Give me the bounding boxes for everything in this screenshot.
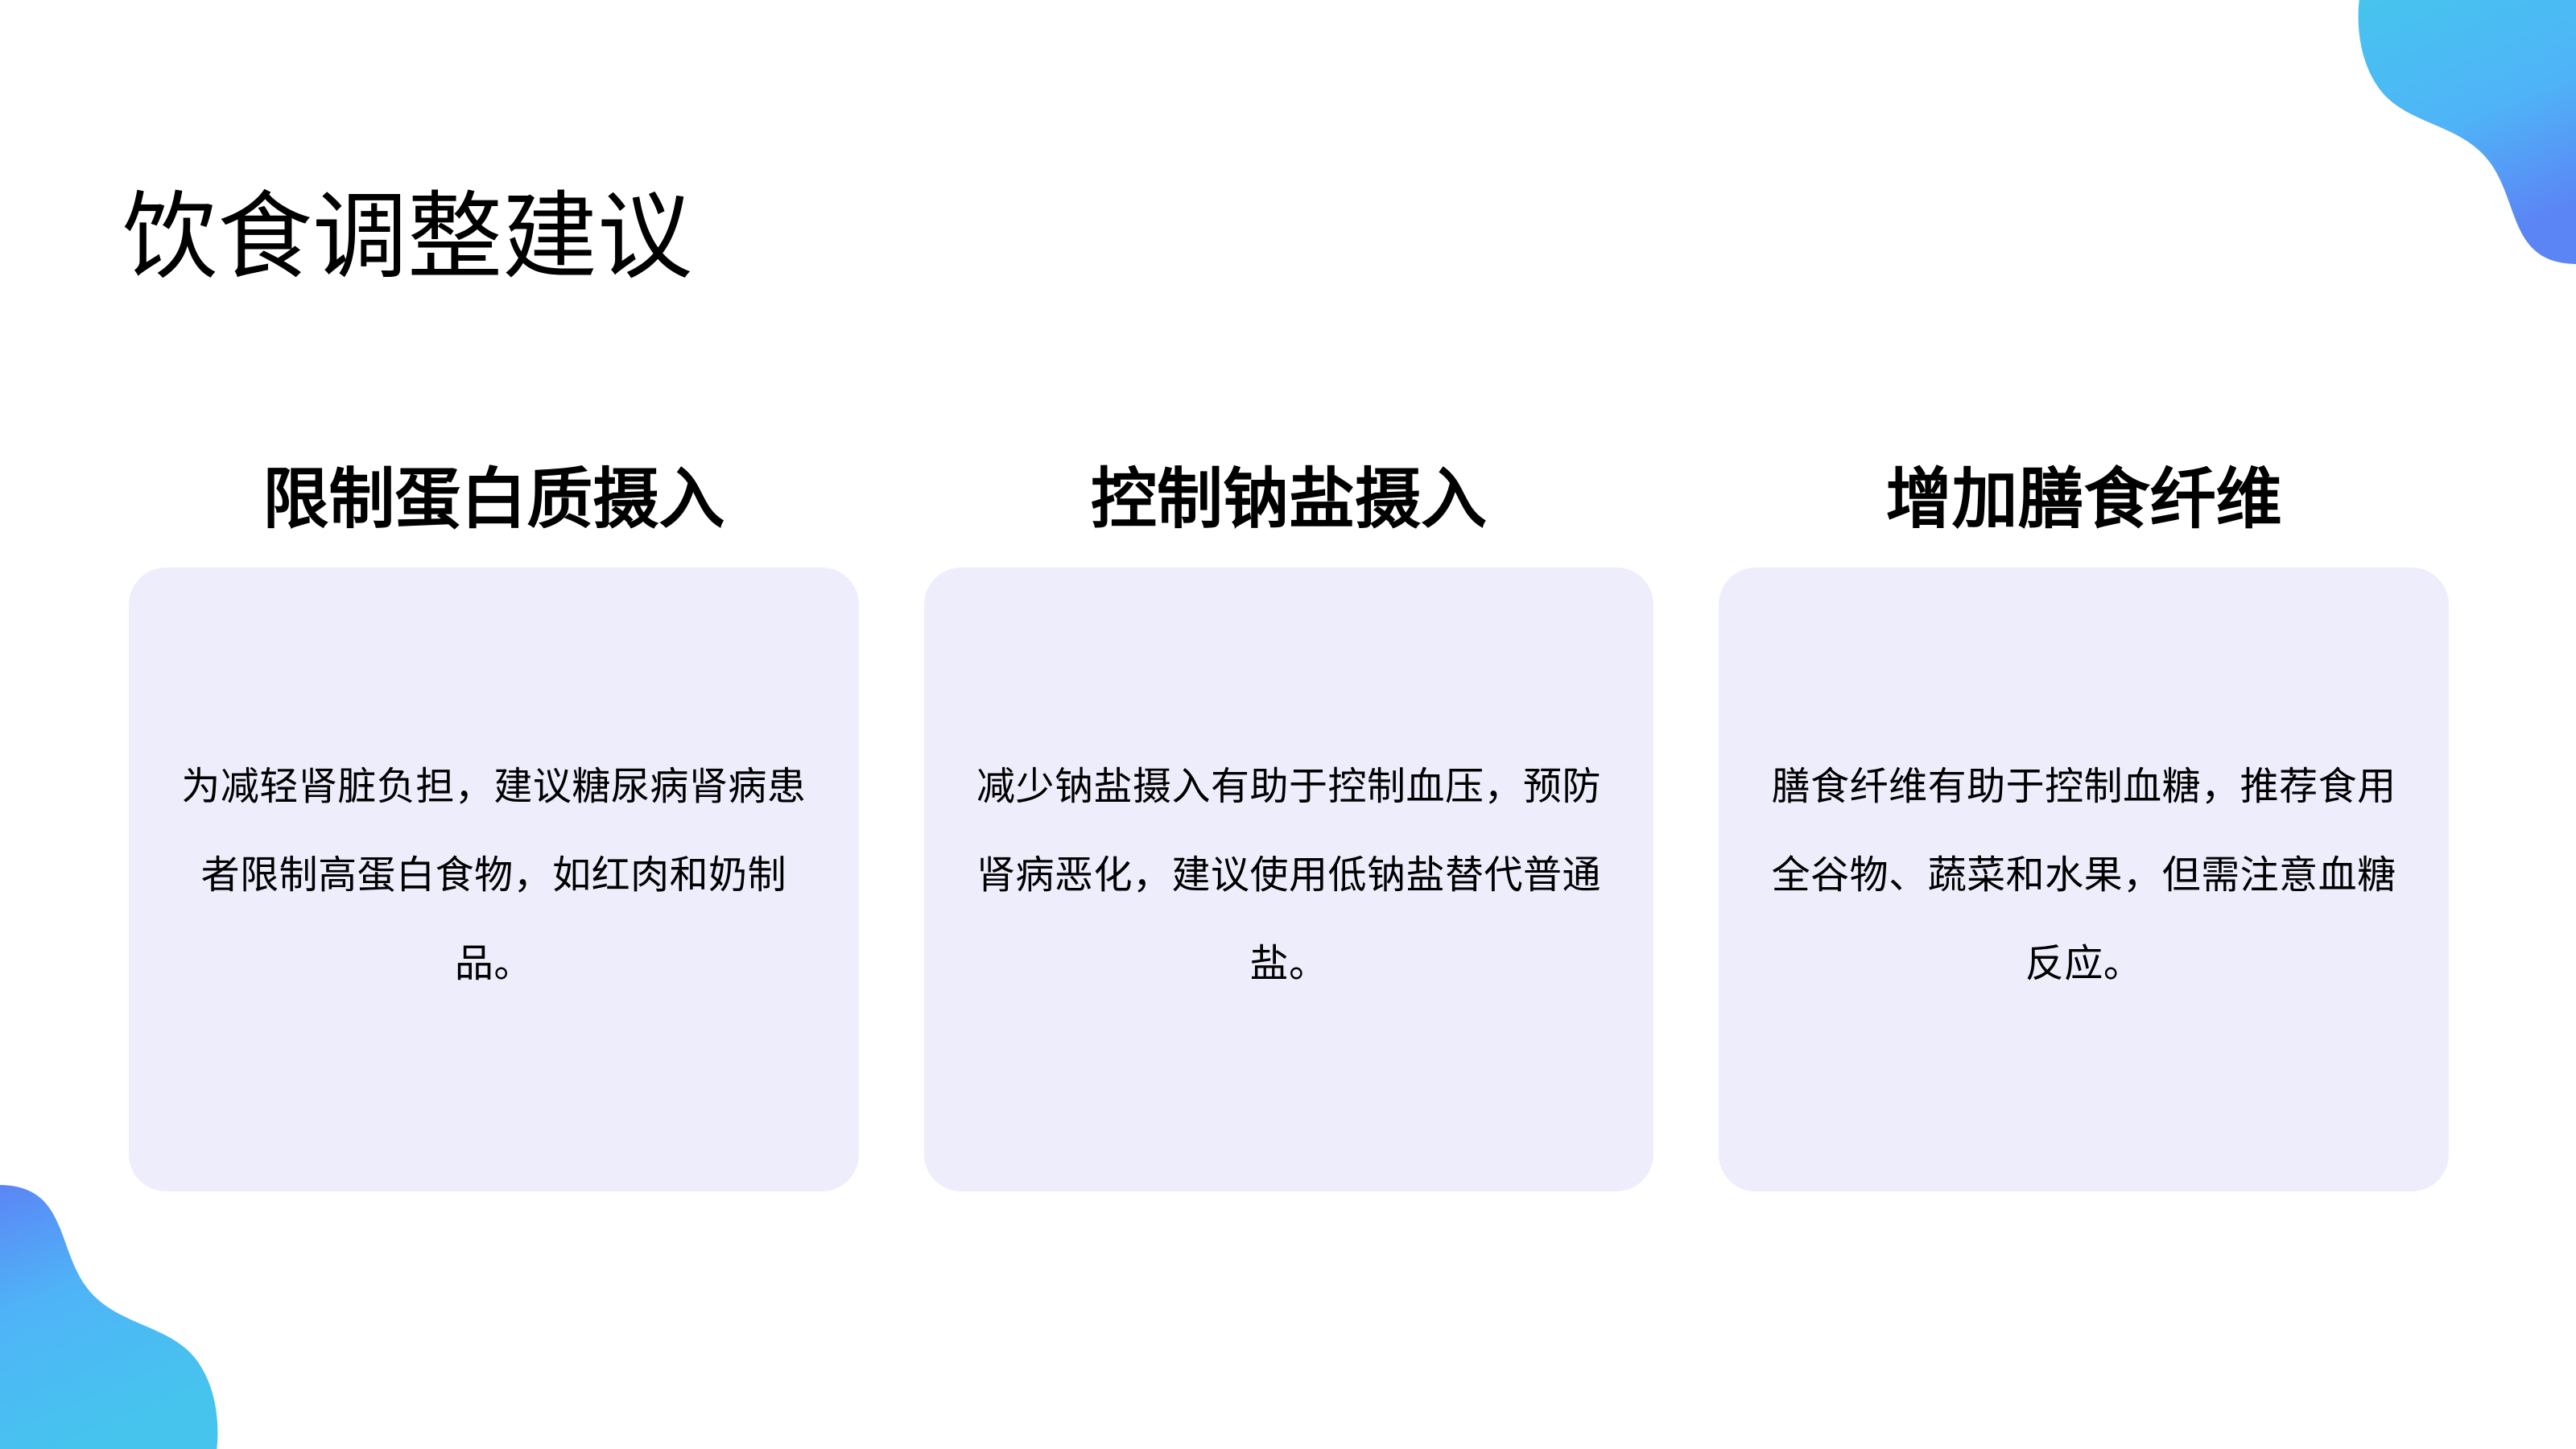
card-body-2: 减少钠盐摄入有助于控制血压，预防肾病恶化，建议使用低钠盐替代普通盐。 — [971, 743, 1608, 1009]
card-columns: 限制蛋白质摄入 为减轻肾脏负担，建议糖尿病肾病患者限制高蛋白食物，如红肉和奶制品… — [129, 451, 2449, 1191]
card-column-2: 控制钠盐摄入 减少钠盐摄入有助于控制血压，预防肾病恶化，建议使用低钠盐替代普通盐… — [924, 451, 1654, 1191]
card-column-3: 增加膳食纤维 膳食纤维有助于控制血糖，推荐食用全谷物、蔬菜和水果，但需注意血糖反… — [1719, 451, 2449, 1191]
card-heading-1: 限制蛋白质摄入 — [129, 451, 859, 568]
card-heading-2: 控制钠盐摄入 — [924, 451, 1654, 568]
card-column-1: 限制蛋白质摄入 为减轻肾脏负担，建议糖尿病肾病患者限制高蛋白食物，如红肉和奶制品… — [129, 451, 859, 1191]
card-1: 为减轻肾脏负担，建议糖尿病肾病患者限制高蛋白食物，如红肉和奶制品。 — [129, 568, 859, 1191]
bottom-left-blob-decoration — [0, 1185, 264, 1449]
card-body-1: 为减轻肾脏负担，建议糖尿病肾病患者限制高蛋白食物，如红肉和奶制品。 — [175, 743, 812, 1009]
card-2: 减少钠盐摄入有助于控制血压，预防肾病恶化，建议使用低钠盐替代普通盐。 — [924, 568, 1654, 1191]
top-right-blob-decoration — [2312, 0, 2576, 264]
card-heading-3: 增加膳食纤维 — [1719, 451, 2449, 568]
page-title: 饮食调整建议 — [122, 184, 692, 291]
card-body-3: 膳食纤维有助于控制血糖，推荐食用全谷物、蔬菜和水果，但需注意血糖反应。 — [1765, 743, 2402, 1009]
card-3: 膳食纤维有助于控制血糖，推荐食用全谷物、蔬菜和水果，但需注意血糖反应。 — [1719, 568, 2449, 1191]
slide-canvas: 饮食调整建议 限制蛋白质摄入 为减轻肾脏负担，建议糖尿病肾病患者限制高蛋白食物，… — [0, 0, 2576, 1449]
